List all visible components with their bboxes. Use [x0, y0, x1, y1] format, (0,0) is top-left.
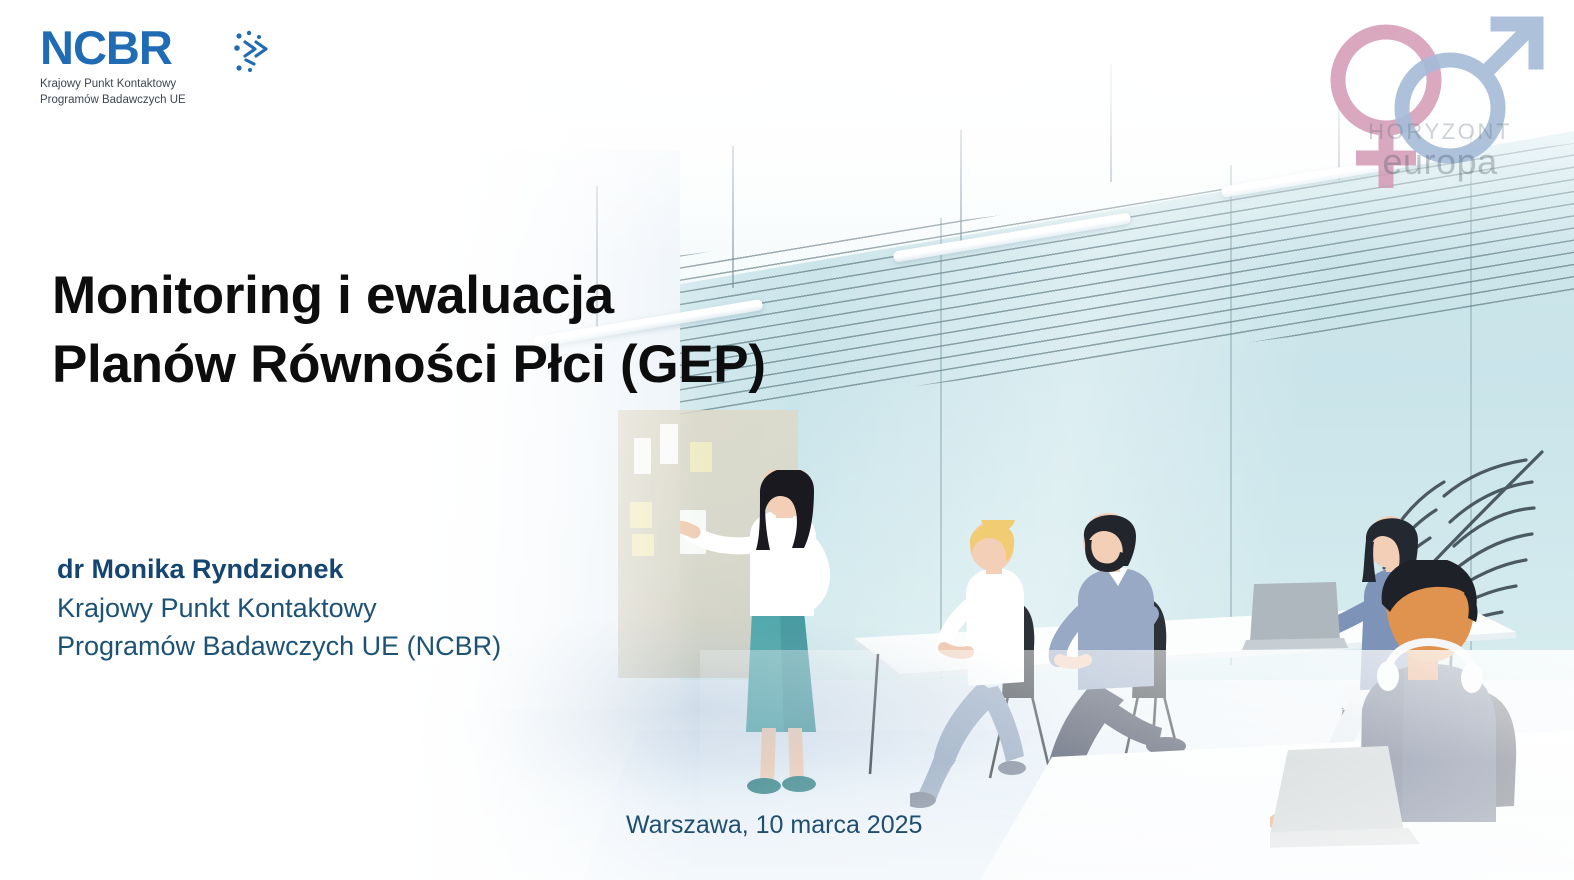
ncbr-logo: NCBR Krajowy Punkt Kontaktowy Programów …: [40, 24, 186, 108]
illustration-left-fade: [280, 0, 700, 880]
horyzont-europa-logo: HORYZONT europa: [1308, 2, 1568, 202]
horyzont-europa-wordmark: HORYZONT europa: [1368, 121, 1512, 180]
europa-text: europa: [1368, 144, 1512, 180]
ncbr-dots-icon: [232, 30, 278, 74]
horyzont-text: HORYZONT: [1368, 121, 1512, 143]
presentation-slide: NCBR Krajowy Punkt Kontaktowy Programów …: [0, 0, 1574, 880]
illustration-bottom-fade: [280, 760, 1574, 880]
author-name: dr Monika Ryndzionek: [57, 550, 501, 589]
ncbr-wordmark: NCBR: [40, 24, 186, 71]
author-organization: Krajowy Punkt Kontaktowy Programów Badaw…: [57, 589, 501, 666]
page-title: Monitoring i ewaluacja Planów Równości P…: [52, 262, 766, 400]
event-date: Warszawa, 10 marca 2025: [626, 811, 922, 840]
ncbr-subtitle: Krajowy Punkt Kontaktowy Programów Badaw…: [40, 77, 186, 108]
author-block: dr Monika Ryndzionek Krajowy Punkt Konta…: [57, 550, 501, 666]
